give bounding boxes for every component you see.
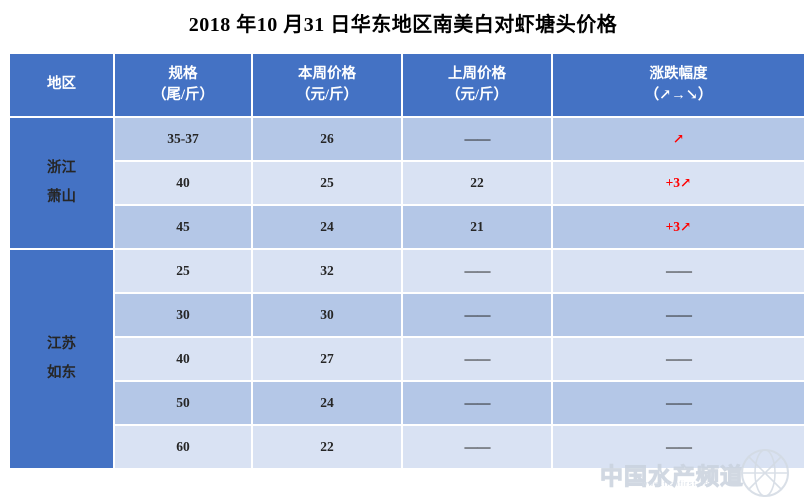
this-week-price-cell: 24 [253,206,401,248]
change-cell: —— [553,338,804,380]
spec-cell: 30 [115,294,251,336]
last-week-price-cell: —— [403,294,551,336]
table-row: 3030———— [10,294,804,336]
column-header-line2: （元/斤） [403,85,551,106]
price-table: 地区规格（尾/斤）本周价格（元/斤）上周价格（元/斤）涨跌幅度（↗→↘）浙江萧山… [8,52,806,470]
column-header-line2: （尾/斤） [115,85,251,106]
region-cell: 浙江萧山 [10,118,113,248]
region-label-line2: 萧山 [10,183,113,212]
this-week-price-cell: 24 [253,382,401,424]
change-cell: —— [553,382,804,424]
spec-cell: 50 [115,382,251,424]
change-cell: +3↗ [553,162,804,204]
table-header-row: 地区规格（尾/斤）本周价格（元/斤）上周价格（元/斤）涨跌幅度（↗→↘） [10,54,804,116]
spec-cell: 45 [115,206,251,248]
table-row: 452421+3↗ [10,206,804,248]
region-label-line2: 如东 [10,359,113,388]
last-week-price-cell: —— [403,118,551,160]
column-header-change: 涨跌幅度（↗→↘） [553,54,804,116]
region-label-line1: 江苏 [10,330,113,359]
column-header-this_week: 本周价格（元/斤） [253,54,401,116]
this-week-price-cell: 25 [253,162,401,204]
table-row: 浙江萧山35-3726——↗ [10,118,804,160]
table-row: 江苏如东2532———— [10,250,804,292]
table-row: 4027———— [10,338,804,380]
last-week-price-cell: —— [403,338,551,380]
this-week-price-cell: 22 [253,426,401,468]
table-row: 5024———— [10,382,804,424]
change-cell: —— [553,294,804,336]
last-week-price-cell: —— [403,426,551,468]
spec-cell: 35-37 [115,118,251,160]
spec-cell: 40 [115,162,251,204]
price-table-container: 地区规格（尾/斤）本周价格（元/斤）上周价格（元/斤）涨跌幅度（↗→↘）浙江萧山… [8,52,798,470]
table-row: 6022———— [10,426,804,468]
page-title: 2018 年10 月31 日华东地区南美白对虾塘头价格 [0,8,806,37]
column-header-region: 地区 [10,54,113,116]
change-cell: —— [553,250,804,292]
column-header-line1: 涨跌幅度 [553,64,804,85]
column-header-line1: 本周价格 [253,64,401,85]
column-header-line2: （元/斤） [253,85,401,106]
column-header-last_week: 上周价格（元/斤） [403,54,551,116]
column-header-line2: （↗→↘） [553,85,804,106]
column-header-line1: 上周价格 [403,64,551,85]
last-week-price-cell: —— [403,250,551,292]
region-label-line1: 浙江 [10,154,113,183]
column-header-line1: 地区 [10,74,113,95]
spec-cell: 25 [115,250,251,292]
column-header-spec: 规格（尾/斤） [115,54,251,116]
region-cell: 江苏如东 [10,250,113,468]
this-week-price-cell: 30 [253,294,401,336]
last-week-price-cell: —— [403,382,551,424]
this-week-price-cell: 27 [253,338,401,380]
column-header-line1: 规格 [115,64,251,85]
spec-cell: 40 [115,338,251,380]
spec-cell: 60 [115,426,251,468]
last-week-price-cell: 22 [403,162,551,204]
change-cell: +3↗ [553,206,804,248]
this-week-price-cell: 26 [253,118,401,160]
change-cell: ↗ [553,118,804,160]
change-cell: —— [553,426,804,468]
this-week-price-cell: 32 [253,250,401,292]
page-root: 2018 年10 月31 日华东地区南美白对虾塘头价格 地区规格（尾/斤）本周价… [0,0,806,501]
watermark-url: www.fishfirst.cn [642,481,709,488]
table-row: 402522+3↗ [10,162,804,204]
last-week-price-cell: 21 [403,206,551,248]
